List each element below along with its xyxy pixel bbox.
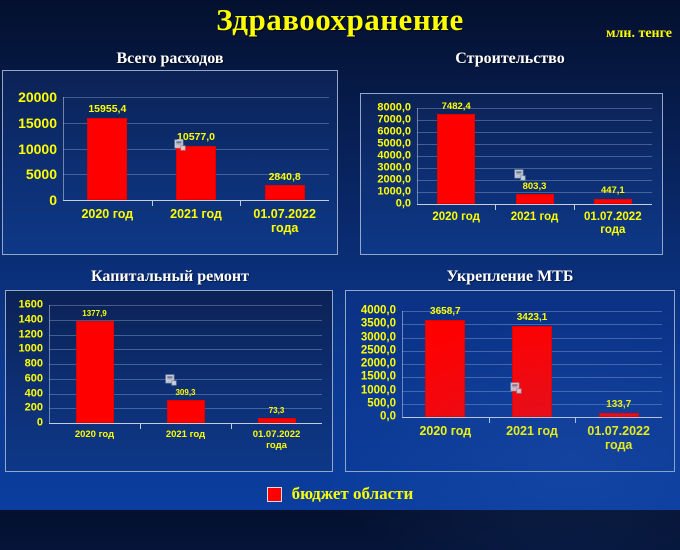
bar-value-label: 3658,7 [430, 306, 461, 317]
broken-image-icon [514, 168, 526, 180]
x-axis-tick [495, 204, 496, 210]
y-axis-tick-label: 5000,0 [361, 139, 411, 150]
y-axis-tick-label: 3000,0 [346, 332, 396, 344]
y-axis-tick-label: 4000,0 [346, 305, 396, 317]
plot-area-mtb-strengthening: 0,0500,01000,01500,02000,02500,03000,035… [346, 291, 674, 471]
bar-value-label: 73,3 [269, 406, 285, 415]
bar-value-label: 15955,4 [88, 103, 126, 115]
bar-3 [594, 199, 632, 204]
gridline [63, 97, 329, 98]
gridline [49, 305, 322, 306]
bar-3 [258, 418, 296, 423]
chart-panel-capital-repair: 020040060080010001200140016001377,92020 … [5, 290, 333, 472]
bar-1 [437, 114, 475, 204]
bar-2 [516, 194, 554, 204]
chart-title-construction: Строительство [344, 50, 676, 68]
y-axis-tick-label: 8000,0 [361, 103, 411, 114]
y-axis-tick-label: 1000,0 [346, 385, 396, 397]
y-axis-tick-label: 3500,0 [346, 319, 396, 331]
y-axis-line [417, 108, 418, 204]
y-axis-tick-label: 7000,0 [361, 115, 411, 126]
bar-value-label: 803,3 [523, 181, 547, 192]
y-axis-tick-label: 1600 [6, 300, 43, 311]
broken-image-icon [174, 138, 186, 150]
bar-value-label: 3423,1 [517, 312, 548, 323]
x-axis-tick [140, 423, 141, 429]
plot-area-capital-repair: 020040060080010001200140016001377,92020 … [6, 291, 332, 471]
bar-2 [167, 400, 205, 423]
y-axis-tick-label: 1500,0 [346, 372, 396, 384]
y-axis-tick-label: 2000,0 [361, 175, 411, 186]
y-axis-line [49, 305, 50, 423]
y-axis-tick-label: 600 [6, 373, 43, 384]
x-axis-tick [152, 200, 153, 206]
x-axis-category-label: 01.07.2022 года [564, 424, 673, 453]
legend: бюджет области [0, 484, 680, 504]
y-axis-tick-label: 2500,0 [346, 345, 396, 357]
page-title: Здравоохранение [0, 2, 680, 38]
bar-value-label: 133,7 [606, 399, 631, 410]
x-axis-category-label: 01.07.2022 года [229, 207, 340, 236]
bar-2 [176, 146, 216, 200]
y-axis-tick-label: 0,0 [346, 411, 396, 423]
legend-swatch-icon [267, 487, 282, 502]
legend-label: бюджет области [292, 484, 414, 504]
units-label: млн. тенге [606, 26, 672, 42]
bar-value-label: 447,1 [601, 185, 625, 196]
y-axis-tick-label: 1000 [6, 344, 43, 355]
x-axis-line [63, 200, 329, 201]
y-axis-tick-label: 200 [6, 403, 43, 414]
broken-image-icon [510, 381, 522, 393]
chart-panel-total-expenses: 0500010000150002000015955,42020 год10577… [2, 70, 338, 255]
bar-3 [265, 185, 305, 200]
y-axis-tick-label: 0,0 [361, 199, 411, 210]
y-axis-tick-label: 0 [6, 418, 43, 429]
x-axis-tick [240, 200, 241, 206]
bar-3 [599, 413, 639, 417]
y-axis-tick-label: 6000,0 [361, 127, 411, 138]
x-axis-tick [574, 204, 575, 210]
x-axis-category-label: 01.07.2022 года [220, 430, 333, 452]
bar-1 [87, 118, 127, 200]
y-axis-tick-label: 400 [6, 388, 43, 399]
x-axis-category-label: 01.07.2022 года [563, 211, 663, 237]
x-axis-tick [231, 423, 232, 429]
y-axis-tick-label: 10000 [3, 142, 57, 156]
y-axis-tick-label: 4000,0 [361, 151, 411, 162]
chart-panel-mtb-strengthening: 0,0500,01000,01500,02000,02500,03000,035… [345, 290, 675, 472]
y-axis-line [63, 97, 64, 200]
y-axis-line [402, 311, 403, 417]
bar-1 [76, 321, 114, 423]
x-axis-line [417, 204, 652, 205]
y-axis-tick-label: 2000,0 [346, 358, 396, 370]
y-axis-tick-label: 800 [6, 359, 43, 370]
plot-area-construction: 0,01000,02000,03000,04000,05000,06000,07… [361, 94, 662, 254]
y-axis-tick-label: 0 [3, 193, 57, 207]
chart-title-mtb-strengthening: Укрепление МТБ [344, 268, 676, 286]
chart-panel-construction: 0,01000,02000,03000,04000,05000,06000,07… [360, 93, 663, 255]
y-axis-tick-label: 500,0 [346, 398, 396, 410]
x-axis-tick [489, 417, 490, 423]
y-axis-tick-label: 5000 [3, 167, 57, 181]
y-axis-tick-label: 1000,0 [361, 187, 411, 198]
chart-title-capital-repair: Капитальный ремонт [2, 268, 338, 286]
chart-title-total-expenses: Всего расходов [2, 50, 338, 68]
y-axis-tick-label: 20000 [3, 90, 57, 104]
x-axis-tick [575, 417, 576, 423]
bar-value-label: 2840,8 [269, 171, 301, 183]
x-axis-line [49, 423, 322, 424]
plot-area-total-expenses: 0500010000150002000015955,42020 год10577… [3, 71, 337, 254]
bar-2 [512, 326, 552, 417]
y-axis-tick-label: 3000,0 [361, 163, 411, 174]
bar-1 [425, 320, 465, 417]
x-axis-line [402, 417, 662, 418]
y-axis-tick-label: 1400 [6, 314, 43, 325]
bar-value-label: 7482,4 [442, 101, 471, 112]
y-axis-tick-label: 1200 [6, 329, 43, 340]
y-axis-tick-label: 15000 [3, 116, 57, 130]
bar-value-label: 1377,9 [82, 309, 106, 318]
bar-value-label: 309,3 [175, 388, 195, 397]
broken-image-icon [165, 373, 177, 385]
